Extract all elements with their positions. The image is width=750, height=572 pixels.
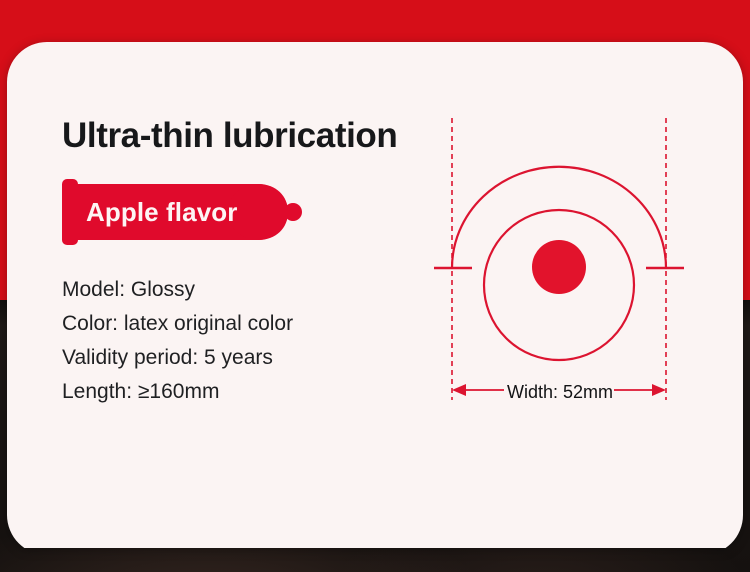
spec-item-model: Model: Glossy xyxy=(62,273,442,307)
center-dot xyxy=(532,240,586,294)
card-text-column: Ultra-thin lubrication Apple flavor Mode… xyxy=(62,118,442,409)
product-detail-banner: Ultra-thin lubrication Apple flavor Mode… xyxy=(0,0,750,572)
page-title: Ultra-thin lubrication xyxy=(62,118,442,153)
flavor-badge: Apple flavor xyxy=(62,176,312,248)
dimension-label: Width: 52mm xyxy=(430,382,690,403)
flavor-badge-label: Apple flavor xyxy=(86,176,237,248)
spec-item-length: Length: ≥160mm xyxy=(62,375,442,409)
spec-item-color: Color: latex original color xyxy=(62,307,442,341)
spec-item-validity: Validity period: 5 years xyxy=(62,341,442,375)
width-diagram: Width: 52mm xyxy=(430,100,690,420)
spec-list: Model: Glossy Color: latex original colo… xyxy=(62,273,442,409)
